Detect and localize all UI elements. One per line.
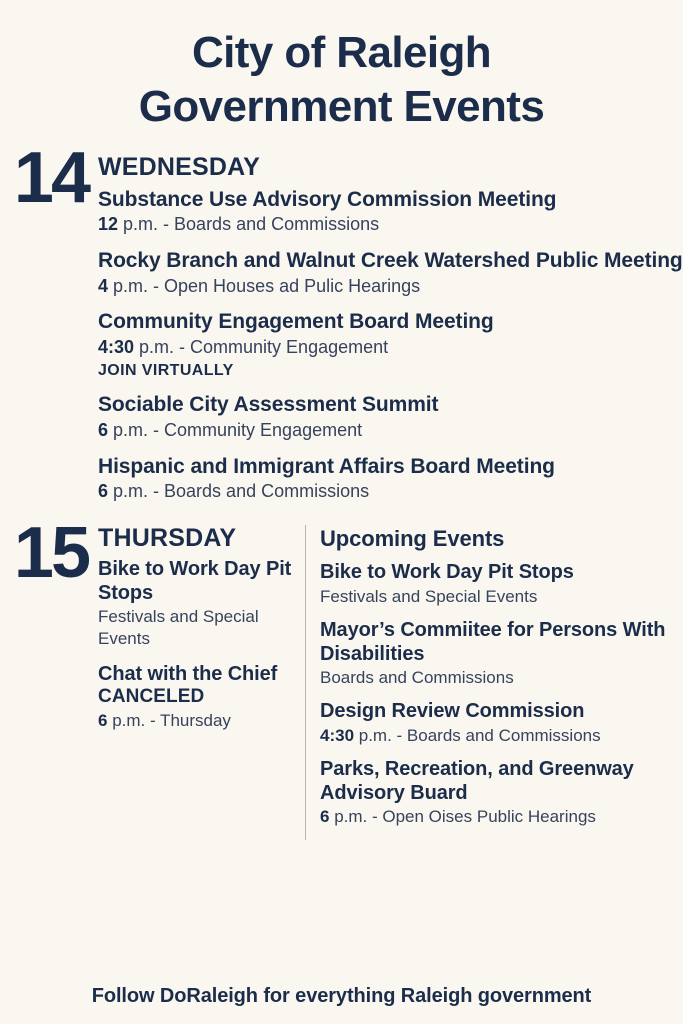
event-title: Bike to Work Day Pit Stops [320,561,683,585]
event-meta: 4:30 p.m. - Boards and Commissions [320,725,683,746]
event-meta: 6 p.m. - Boards and Commissions [98,480,683,503]
event-meta: 4 p.m. - Open Houses ad Pulic Hearings [98,275,683,298]
upcoming-events-column: Upcoming Events Bike to Work Day Pit Sto… [320,525,683,840]
list-item[interactable]: Hispanic and Immigrant Affairs Board Mee… [98,455,683,503]
list-item[interactable]: Community Engagement Board Meeting 4:30 … [98,310,683,380]
event-meta-rest: p.m. - Open Oises Public Hearings [329,807,595,826]
list-item[interactable]: Substance Use Advisory Commission Meetin… [98,188,683,236]
event-time: 4:30 [320,726,354,745]
list-item[interactable]: Sociable City Assessment Summit 6 p.m. -… [98,393,683,441]
event-meta-rest: p.m. - Thursday [107,711,230,730]
event-meta-rest: p.m. - Community Engagement [108,420,362,440]
day-number-14: 14 [0,150,98,206]
event-title: Rocky Branch and Walnut Creek Watershed … [98,249,683,274]
title-line-1: City of Raleigh [0,26,683,80]
day-body-wednesday: WEDNESDAY Substance Use Advisory Commiss… [98,150,683,503]
event-title: Bike to Work Day Pit Stops [98,558,293,605]
page-title: City of Raleigh Government Events [0,0,683,133]
event-meta-rest: p.m. - Open Houses ad Pulic Hearings [108,276,420,296]
thursday-column: THURSDAY Bike to Work Day Pit Stops Fest… [98,525,305,840]
event-meta: Boards and Commissions [320,667,683,688]
list-item[interactable]: Bike to Work Day Pit Stops Festivals and… [98,558,293,649]
event-time: 4:30 [98,337,134,357]
event-meta: 6 p.m. - Thursday [98,710,293,731]
list-item[interactable]: Rocky Branch and Walnut Creek Watershed … [98,249,683,297]
footer-text: Follow DoRaleigh for everything Raleigh … [0,985,683,1008]
list-item[interactable]: Mayor’s Commiitee for Persons With Disab… [320,619,683,688]
event-title: Community Engagement Board Meeting [98,310,683,335]
day-name-thursday: THURSDAY [98,525,293,551]
event-join-virtually-label: JOIN VIRTUALLY [98,362,683,380]
event-time: 6 [98,420,108,440]
event-title: Design Review Commission [320,700,683,724]
day-section-wednesday: 14 WEDNESDAY Substance Use Advisory Comm… [0,150,683,503]
list-item[interactable]: Design Review Commission 4:30 p.m. - Boa… [320,700,683,746]
title-line-2: Government Events [0,80,683,134]
event-time: 12 [98,214,118,234]
event-meta-rest: p.m. - Community Engagement [134,337,388,357]
list-item[interactable]: Parks, Recreation, and Greenway Advisory… [320,758,683,827]
event-meta: 6 p.m. - Open Oises Public Hearings [320,806,683,827]
event-time: 6 [98,481,108,501]
list-item[interactable]: Chat with the Chief CANCELED 6 p.m. - Th… [98,663,293,731]
event-meta-rest: p.m. - Boards and Commissions [108,481,369,501]
column-divider [305,525,306,840]
event-canceled-badge: CANCELED [98,686,293,708]
day-section-thursday: 15 THURSDAY Bike to Work Day Pit Stops F… [0,525,683,840]
list-item[interactable]: Bike to Work Day Pit Stops Festivals and… [320,561,683,607]
event-meta: Festivals and Special Events [98,606,293,649]
event-title: Parks, Recreation, and Greenway Advisory… [320,758,683,805]
event-meta: 12 p.m. - Boards and Commissions [98,213,683,236]
event-meta: 6 p.m. - Community Engagement [98,419,683,442]
event-title: Chat with the Chief [98,663,293,687]
day-name-wednesday: WEDNESDAY [98,154,683,180]
day-number-15: 15 [0,525,98,581]
event-title: Sociable City Assessment Summit [98,393,683,418]
event-title: Hispanic and Immigrant Affairs Board Mee… [98,455,683,480]
event-time: 4 [98,276,108,296]
lower-two-column-area: THURSDAY Bike to Work Day Pit Stops Fest… [98,525,683,840]
event-meta-rest: p.m. - Boards and Commissions [118,214,379,234]
event-title: Substance Use Advisory Commission Meetin… [98,188,683,213]
upcoming-events-heading: Upcoming Events [320,527,683,551]
event-meta: Festivals and Special Events [320,586,683,607]
event-title: Mayor’s Commiitee for Persons With Disab… [320,619,683,666]
event-meta-rest: p.m. - Boards and Commissions [354,726,601,745]
event-meta: 4:30 p.m. - Community Engagement [98,336,683,359]
